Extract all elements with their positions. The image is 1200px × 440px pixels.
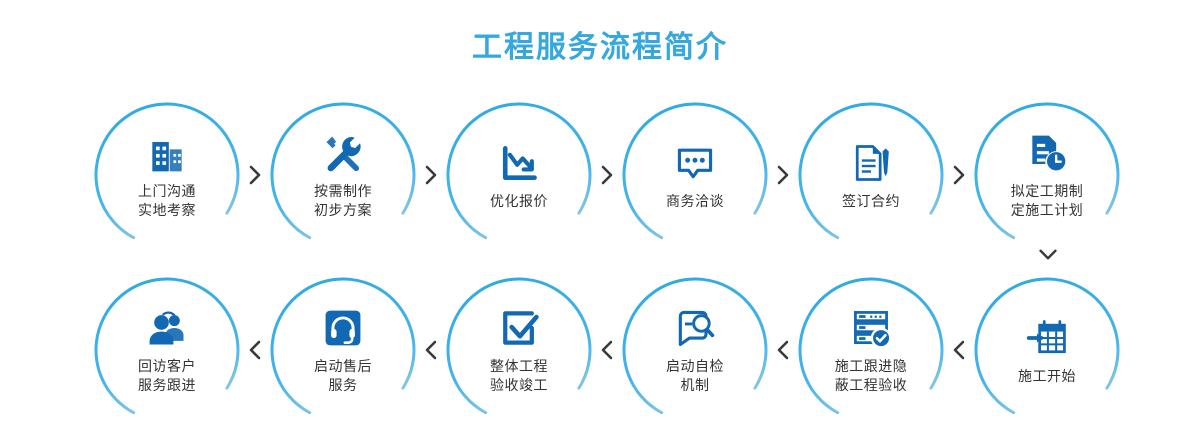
chevron-right-icon [424, 164, 438, 186]
connector-left-1 [242, 275, 268, 425]
step-label-line1: 整体工程 [490, 357, 548, 376]
flowchart-page: 工程服务流程简介 [0, 0, 1200, 440]
step-label-line1: 回访客户 [138, 357, 196, 376]
chevron-left-icon [600, 339, 614, 361]
step-label-line2: 验收竣工 [490, 376, 548, 395]
document-search-icon [672, 305, 718, 351]
step-label-line2: 定施工计划 [1011, 201, 1084, 220]
flow-step-9[interactable]: 启动自检 机制 [620, 275, 770, 425]
step-label-line1: 上门沟通 [138, 182, 196, 201]
flow-step-5[interactable]: 签订合约 [796, 100, 946, 250]
step-label-line1: 施工跟进隐 [835, 357, 908, 376]
step-label-line1: 优化报价 [490, 192, 548, 211]
page-title: 工程服务流程简介 [0, 22, 1200, 66]
chart-down-icon [496, 140, 542, 186]
connector-right-5 [946, 100, 972, 250]
connector-left-4 [770, 275, 796, 425]
step-label-line1: 商务洽谈 [666, 192, 724, 211]
connector-left-5 [946, 275, 972, 425]
connector-right-1 [242, 100, 268, 250]
flow-step-1[interactable]: 上门沟通 实地考察 [92, 100, 242, 250]
step-label-line1: 拟定工期制 [1011, 182, 1084, 201]
chevron-left-icon [424, 339, 438, 361]
step-label-line1: 启动售后 [314, 357, 372, 376]
step-label-line2: 蔽工程验收 [835, 376, 908, 395]
flow-step-2[interactable]: 按需制作 初步方案 [268, 100, 418, 250]
chevron-right-icon [248, 164, 262, 186]
step-label-line1: 按需制作 [314, 182, 372, 201]
document-clock-icon [1024, 130, 1070, 176]
flow-step-4[interactable]: 商务洽谈 [620, 100, 770, 250]
chevron-left-icon [248, 339, 262, 361]
flow-step-7[interactable]: 施工开始 [972, 275, 1122, 425]
connector-right-2 [418, 100, 444, 250]
calendar-arrow-icon [1024, 315, 1070, 361]
step-label-line1: 启动自检 [666, 357, 724, 376]
flow-step-6[interactable]: 拟定工期制 定施工计划 [972, 100, 1122, 250]
flow-row-bottom: 回访客户 服务跟进 [92, 270, 1122, 430]
step-label-line2: 机制 [666, 376, 724, 395]
step-label-line2: 初步方案 [314, 201, 372, 220]
connector-right-3 [594, 100, 620, 250]
wrench-screwdriver-icon [320, 130, 366, 176]
flow-step-10[interactable]: 整体工程 验收竣工 [444, 275, 594, 425]
process-flow: 上门沟通 实地考察 [92, 95, 1122, 425]
building-icon [144, 130, 190, 176]
connector-down [973, 245, 1123, 263]
chevron-down-icon [1037, 248, 1059, 261]
chevron-right-icon [952, 164, 966, 186]
step-label-line2: 实地考察 [138, 201, 196, 220]
connector-left-2 [418, 275, 444, 425]
connector-right-4 [770, 100, 796, 250]
flow-step-11[interactable]: 启动售后 服务 [268, 275, 418, 425]
speech-bubble-icon [672, 140, 718, 186]
step-label-line2: 服务跟进 [138, 376, 196, 395]
checkbox-check-icon [496, 305, 542, 351]
chevron-left-icon [952, 339, 966, 361]
step-label-line2: 服务 [314, 376, 372, 395]
headset-icon [320, 305, 366, 351]
chevron-right-icon [600, 164, 614, 186]
flow-step-3[interactable]: 优化报价 [444, 100, 594, 250]
contract-pen-icon [848, 140, 894, 186]
server-check-icon [848, 305, 894, 351]
connector-left-3 [594, 275, 620, 425]
chevron-right-icon [776, 164, 790, 186]
flow-step-8[interactable]: 施工跟进隐 蔽工程验收 [796, 275, 946, 425]
flow-step-12[interactable]: 回访客户 服务跟进 [92, 275, 242, 425]
two-people-icon [144, 305, 190, 351]
chevron-left-icon [776, 339, 790, 361]
flow-row-top: 上门沟通 实地考察 [92, 95, 1122, 255]
step-label-line1: 施工开始 [1018, 367, 1076, 386]
step-label-line1: 签订合约 [842, 192, 900, 211]
